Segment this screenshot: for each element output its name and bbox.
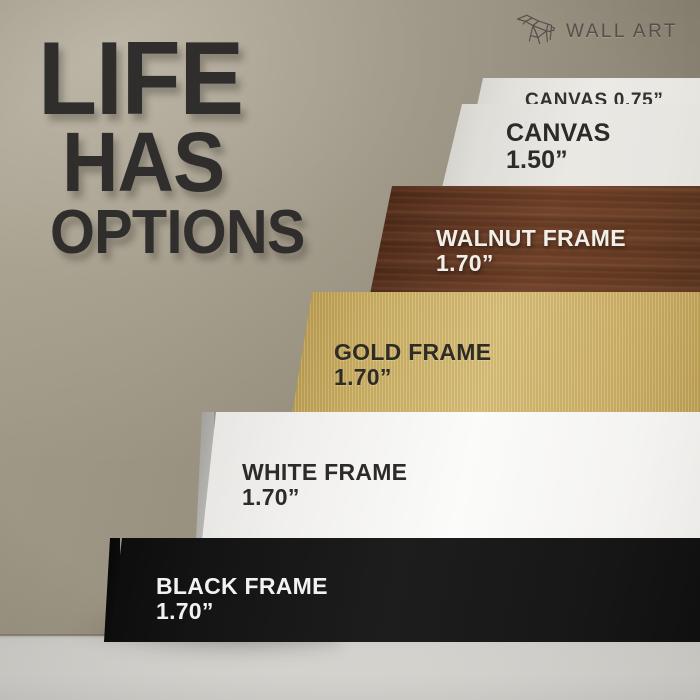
headline-line-3: OPTIONS: [50, 207, 305, 258]
label-line-2: 1.70”: [156, 599, 328, 624]
layer-label-walnut: WALNUT FRAME 1.70”: [436, 226, 626, 276]
product-options-infographic: LIFE HAS OPTIONS WALL ART: [0, 0, 700, 700]
layer-label-gold: GOLD FRAME 1.70”: [334, 340, 491, 390]
label-line-2: 1.70”: [436, 251, 626, 276]
product-layer-black-frame[interactable]: BLACK FRAME 1.70”: [110, 538, 700, 642]
headline-line-1: LIFE: [38, 36, 304, 122]
label-line-1: BLACK FRAME: [156, 573, 328, 599]
label-line-1: WALNUT FRAME: [436, 225, 626, 251]
product-layer-canvas-150[interactable]: CANVAS 1.50”: [440, 104, 700, 196]
label-line-1: GOLD FRAME: [334, 339, 491, 365]
label-line-2: 1.70”: [242, 485, 407, 510]
brand-name: WALL ART: [566, 21, 678, 43]
layer-label-white: WHITE FRAME 1.70”: [242, 460, 407, 510]
label-line-1: WHITE FRAME: [242, 459, 407, 485]
label-line-1: CANVAS: [506, 119, 610, 147]
label-line-2: 1.70”: [334, 365, 491, 390]
headline-line-2: HAS: [62, 128, 306, 198]
headline: LIFE HAS OPTIONS: [38, 36, 324, 258]
product-layer-white-frame[interactable]: WHITE FRAME 1.70”: [202, 412, 700, 540]
layer-label-black: BLACK FRAME 1.70”: [156, 574, 328, 624]
label-line-2: 1.50”: [506, 147, 610, 174]
product-layer-gold-frame[interactable]: GOLD FRAME 1.70”: [292, 292, 700, 414]
origami-goat-icon: [515, 12, 557, 51]
layer-label-canvas-150: CANVAS 1.50”: [506, 120, 610, 174]
brand-logo: WALL ART: [515, 12, 678, 51]
product-layer-walnut-frame[interactable]: WALNUT FRAME 1.70”: [368, 186, 700, 304]
